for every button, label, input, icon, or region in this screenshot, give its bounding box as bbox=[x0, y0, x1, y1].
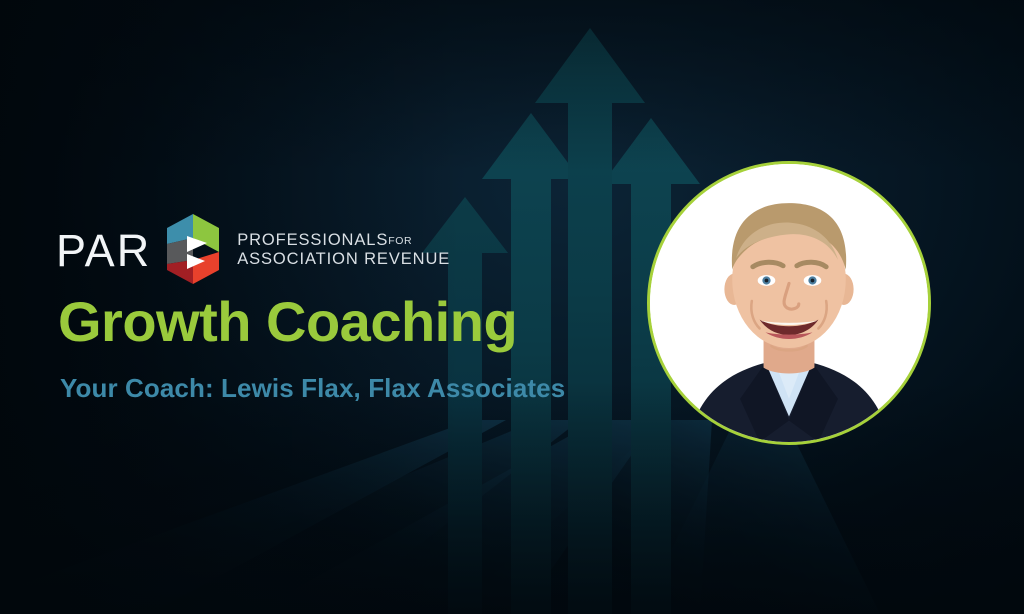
par-tagline-line1: PROFESSIONALSFOR bbox=[237, 231, 450, 250]
par-wordmark: PAR bbox=[56, 228, 151, 273]
arrow-3-tall bbox=[535, 28, 645, 614]
par-logo-mark-icon bbox=[165, 212, 221, 288]
par-tagline-for: FOR bbox=[388, 235, 412, 247]
coach-portrait-illustration bbox=[650, 164, 928, 442]
growth-coaching-banner: PAR PROFESSIONALSFOR ASSOCIATION REVENUE… bbox=[0, 0, 1024, 614]
par-tagline-professionals: PROFESSIONALS bbox=[237, 231, 388, 249]
page-subtitle: Your Coach: Lewis Flax, Flax Associates bbox=[60, 374, 565, 403]
coach-portrait-avatar bbox=[647, 161, 931, 445]
arrow-2-medium bbox=[482, 113, 580, 614]
par-tagline-line2: ASSOCIATION REVENUE bbox=[237, 250, 450, 269]
page-title: Growth Coaching bbox=[58, 294, 517, 350]
par-logo: PAR PROFESSIONALSFOR ASSOCIATION REVENUE bbox=[56, 212, 450, 288]
par-tagline: PROFESSIONALSFOR ASSOCIATION REVENUE bbox=[235, 231, 450, 270]
